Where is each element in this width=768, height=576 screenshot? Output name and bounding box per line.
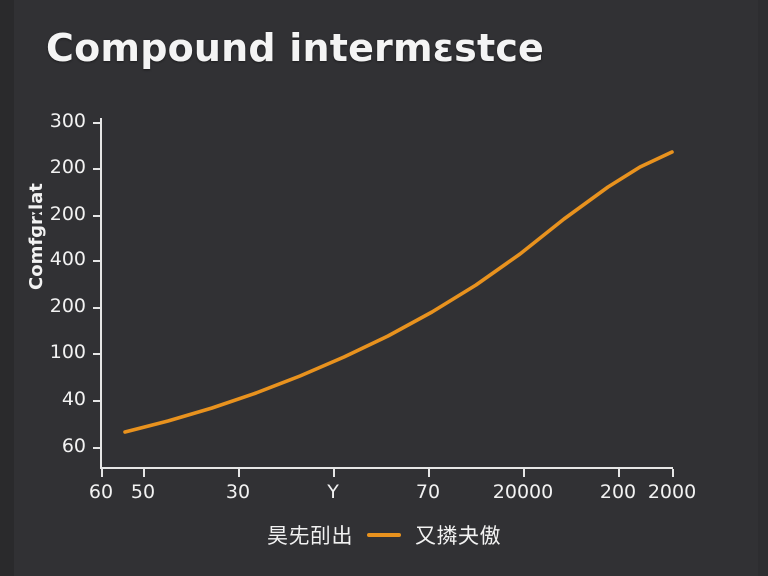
x-tick-mark-3	[333, 469, 335, 477]
chart-canvas: Compound intermɛstce 300 200 200 400 200…	[0, 0, 768, 576]
x-tick-label-3: Y	[327, 481, 339, 503]
x-tick-label-2: 30	[226, 481, 250, 503]
y-tick-mark-6	[93, 400, 100, 402]
x-tick-label-6: 200	[600, 481, 636, 503]
y-tick-mark-3	[93, 260, 100, 262]
x-tick-mark-5	[523, 469, 525, 477]
x-tick-label-1: 50	[131, 481, 155, 503]
y-tick-label-6: 40	[62, 388, 86, 410]
x-tick-mark-7	[672, 469, 674, 477]
x-tick-mark-0	[101, 469, 103, 477]
x-tick-mark-4	[428, 469, 430, 477]
y-axis-spine	[100, 118, 102, 469]
y-tick-label-3: 400	[50, 248, 86, 270]
x-tick-mark-2	[238, 469, 240, 477]
y-tick-mark-4	[93, 307, 100, 309]
x-axis-spine	[100, 467, 673, 469]
legend-label-left: 昊兂㓦出	[267, 520, 353, 550]
x-tick-label-0: 60	[89, 481, 113, 503]
chart-title: Compound intermɛstce	[46, 26, 544, 70]
y-tick-mark-0	[93, 122, 100, 124]
x-tick-label-7: 2000	[648, 481, 696, 503]
x-tick-mark-6	[618, 469, 620, 477]
plot-area	[101, 118, 672, 468]
y-tick-label-7: 60	[62, 435, 86, 457]
legend-line-marker-icon	[367, 533, 401, 537]
y-tick-label-0: 300	[50, 110, 86, 132]
x-tick-label-4: 70	[416, 481, 440, 503]
y-tick-label-5: 100	[50, 341, 86, 363]
y-axis-label: Comfɡrːlat	[26, 183, 47, 290]
y-tick-mark-7	[93, 447, 100, 449]
y-tick-label-1: 200	[50, 156, 86, 178]
y-tick-label-2: 200	[50, 203, 86, 225]
y-tick-label-4: 200	[50, 295, 86, 317]
y-tick-mark-5	[93, 353, 100, 355]
y-tick-mark-2	[93, 215, 100, 217]
chart-legend: 昊兂㓦出 又撛夬傲	[0, 520, 768, 550]
y-tick-mark-1	[93, 168, 100, 170]
x-tick-label-5: 20000	[493, 481, 553, 503]
x-tick-mark-1	[143, 469, 145, 477]
legend-label-right: 又撛夬傲	[415, 520, 501, 550]
